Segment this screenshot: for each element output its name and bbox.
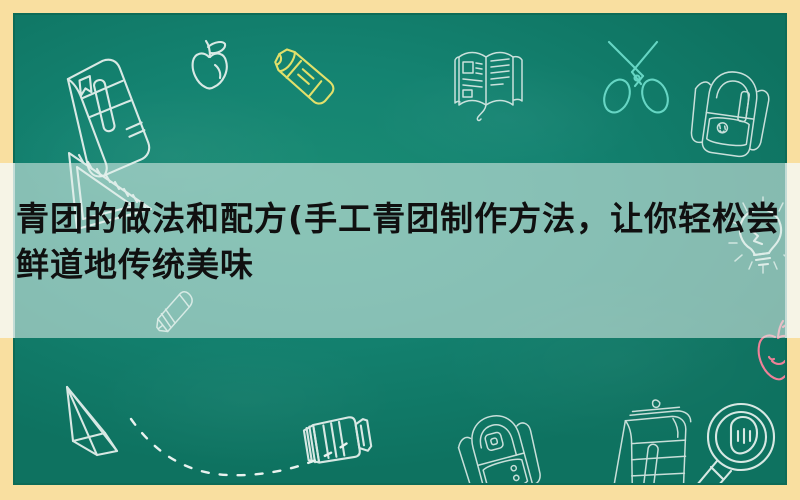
- backpack-icon: [687, 58, 777, 163]
- paint-tube-icon: [300, 411, 380, 471]
- poster-title: 青团的做法和配方(手工青团制作方法，让你轻松尝鲜道地传统美味: [16, 196, 786, 288]
- title-banner-edge-right: [785, 163, 800, 338]
- backpack-outline-icon: [450, 400, 560, 483]
- dashed-trail-icon: [125, 413, 365, 483]
- scissors-icon: [599, 30, 679, 120]
- closed-book-icon: [63, 55, 153, 175]
- magnifier-icon: [687, 393, 785, 483]
- paper-plane-icon: [55, 377, 165, 477]
- open-book-icon: [451, 43, 531, 123]
- crayon-icon: [258, 49, 338, 119]
- poster-canvas: 青团的做法和配方(手工青团制作方法，让你轻松尝鲜道地传统美味: [0, 0, 800, 500]
- apple-icon: [175, 35, 245, 105]
- book-stack-icon: [605, 400, 695, 483]
- title-banner-edge-left: [0, 163, 15, 338]
